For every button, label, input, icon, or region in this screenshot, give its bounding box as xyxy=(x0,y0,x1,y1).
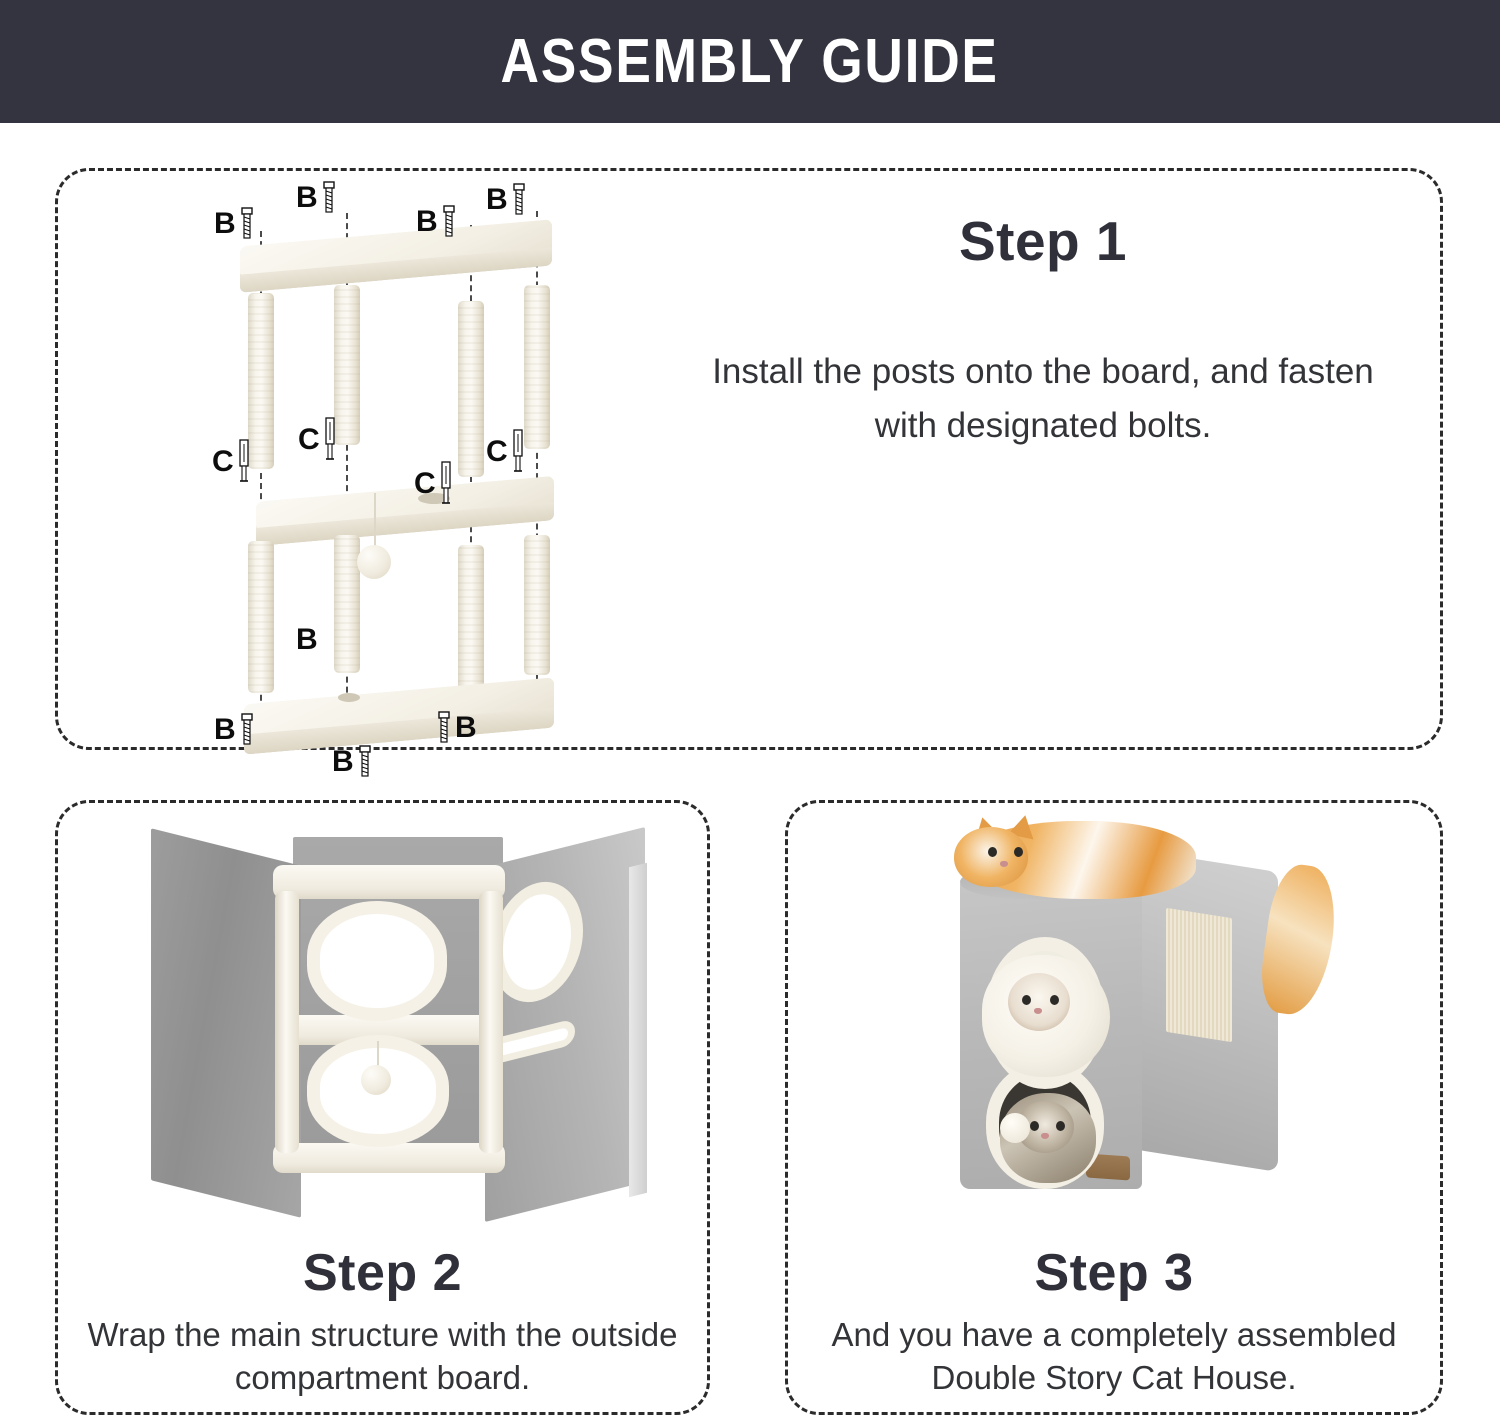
frame-bottom-slab xyxy=(273,1143,505,1173)
cat-eye xyxy=(1014,847,1023,857)
screw-icon xyxy=(436,711,452,745)
page-header: ASSEMBLY GUIDE xyxy=(0,0,1500,123)
callout-b: B xyxy=(214,713,255,747)
cat-eye xyxy=(1056,1121,1065,1131)
barrel-bolt-icon xyxy=(323,417,337,463)
step-1-heading: Step 1 xyxy=(703,209,1383,273)
callout-b: B xyxy=(296,625,318,655)
step-2-heading: Step 2 xyxy=(76,1243,689,1303)
bottom-board xyxy=(244,677,554,754)
callout-c: C xyxy=(212,439,251,485)
exploded-assembly-diagram: B B xyxy=(218,193,618,733)
cat-eye xyxy=(988,847,997,857)
step-3-panel: Step 3 And you have a completely assembl… xyxy=(785,800,1443,1415)
ball-string xyxy=(377,1041,379,1067)
post xyxy=(334,535,360,673)
ball-string xyxy=(374,493,376,549)
sisal-scratch-pad xyxy=(1166,908,1232,1042)
screw-icon xyxy=(239,713,255,747)
frame-pillar xyxy=(275,891,299,1153)
step-1-text-block: Step 1 Install the posts onto the board,… xyxy=(703,209,1383,454)
step-3-body: And you have a completely assembled Doub… xyxy=(806,1313,1422,1400)
callout-b: B xyxy=(296,181,337,215)
screw-icon xyxy=(511,183,527,217)
post xyxy=(334,285,360,445)
step-2-body: Wrap the main structure with the outside… xyxy=(76,1313,689,1400)
screw-icon xyxy=(239,207,255,241)
barrel-bolt-icon xyxy=(237,439,251,485)
screw-icon xyxy=(321,181,337,215)
callout-c: C xyxy=(298,417,337,463)
barrel-bolt-icon xyxy=(511,429,525,475)
frame-pillar xyxy=(479,891,503,1153)
step-3-text-block: Step 3 And you have a completely assembl… xyxy=(806,1243,1422,1400)
step-2-illustration xyxy=(113,831,673,1231)
board-hole xyxy=(338,693,360,702)
ball-toy xyxy=(357,545,391,579)
step-1-panel: B B xyxy=(55,168,1443,750)
step-1-body: Install the posts onto the board, and fa… xyxy=(703,345,1383,454)
cat-eye xyxy=(1022,995,1031,1005)
callout-b: B xyxy=(436,711,477,745)
post xyxy=(248,541,274,693)
top-board xyxy=(240,219,552,292)
upper-oval-opening xyxy=(307,901,447,1021)
callout-c: C xyxy=(414,461,453,507)
pompom-toy xyxy=(1000,1113,1030,1143)
cat-eye xyxy=(1050,995,1059,1005)
callout-b: B xyxy=(486,183,527,217)
callout-b: B xyxy=(214,207,255,241)
cream-frame xyxy=(273,865,505,1173)
cat-nose xyxy=(1041,1133,1049,1139)
step-2-panel: Step 2 Wrap the main structure with the … xyxy=(55,800,710,1415)
step-3-heading: Step 3 xyxy=(806,1243,1422,1303)
cat-nose xyxy=(1000,861,1008,867)
cat-eye xyxy=(1030,1121,1039,1131)
hanging-ball-toy xyxy=(361,1065,391,1095)
middle-board xyxy=(256,476,554,546)
frame-top-slab xyxy=(273,865,505,899)
screw-icon xyxy=(357,745,373,779)
orange-tabby-cat-head xyxy=(954,827,1028,887)
post xyxy=(524,535,550,675)
cat-nose xyxy=(1034,1008,1042,1014)
post xyxy=(248,293,274,469)
callout-b: B xyxy=(332,745,373,779)
post xyxy=(458,545,484,703)
step-3-illustration xyxy=(938,825,1298,1225)
page-title: ASSEMBLY GUIDE xyxy=(501,26,999,97)
callout-c: C xyxy=(486,429,525,475)
post xyxy=(458,301,484,477)
callout-b: B xyxy=(416,205,457,239)
step-2-text-block: Step 2 Wrap the main structure with the … xyxy=(76,1243,689,1400)
white-ragdoll-cat-face xyxy=(1008,973,1070,1031)
post xyxy=(524,285,550,449)
screw-icon xyxy=(441,205,457,239)
barrel-bolt-icon xyxy=(439,461,453,507)
felt-panel-right-edge xyxy=(629,863,647,1197)
